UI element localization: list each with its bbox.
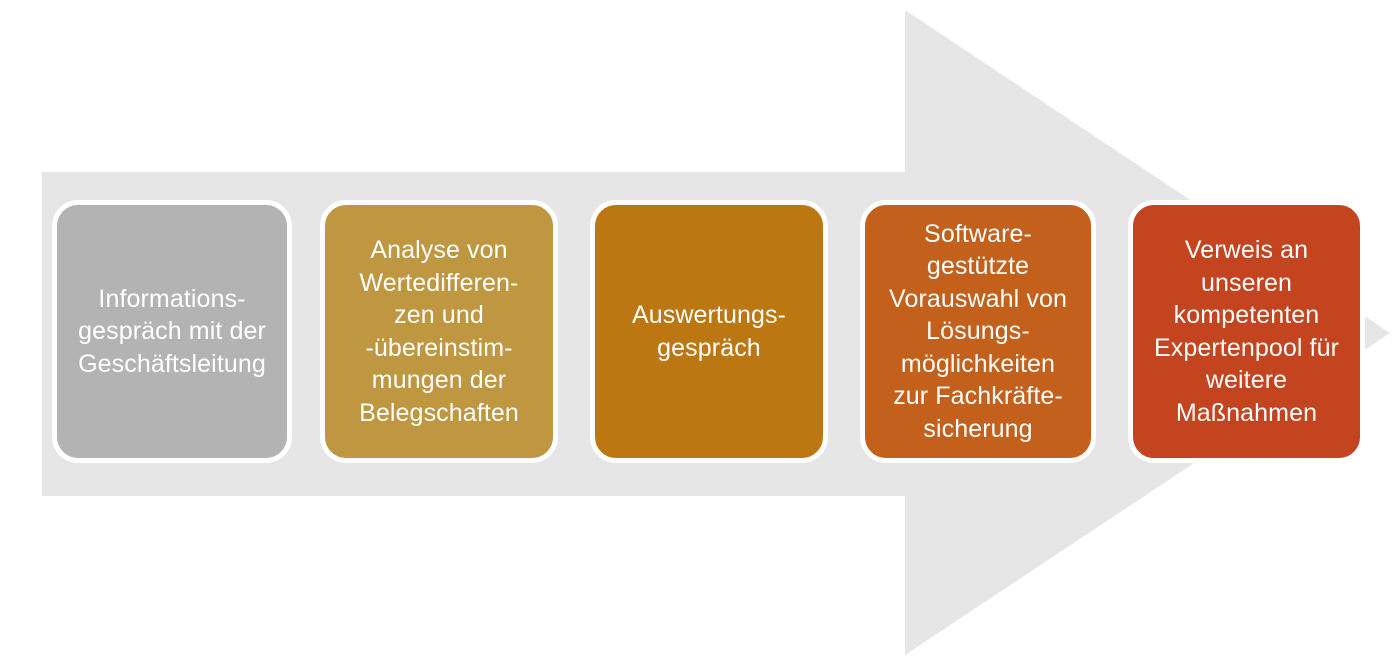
stage-box-4[interactable]: Software- gestützte Vorauswahl von Lösun… [860, 200, 1096, 463]
stage-box-2[interactable]: Analyse von Wertedifferen- zen und -über… [320, 200, 558, 463]
stage-label-2: Analyse von Wertedifferen- zen und -über… [333, 234, 545, 429]
diagram-canvas: Informations- gespräch mit der Geschäfts… [0, 0, 1400, 661]
stage-label-3: Auswertungs- gespräch [603, 299, 815, 364]
stage-label-4: Software- gestützte Vorauswahl von Lösun… [873, 218, 1083, 446]
stage-box-3[interactable]: Auswertungs- gespräch [590, 200, 828, 463]
stage-label-1: Informations- gespräch mit der Geschäfts… [65, 283, 279, 381]
stage-label-5: Verweis an unseren kompetenten Expertenp… [1141, 234, 1352, 429]
stage-box-1[interactable]: Informations- gespräch mit der Geschäfts… [52, 200, 292, 463]
stage-box-5[interactable]: Verweis an unseren kompetenten Expertenp… [1128, 200, 1365, 463]
